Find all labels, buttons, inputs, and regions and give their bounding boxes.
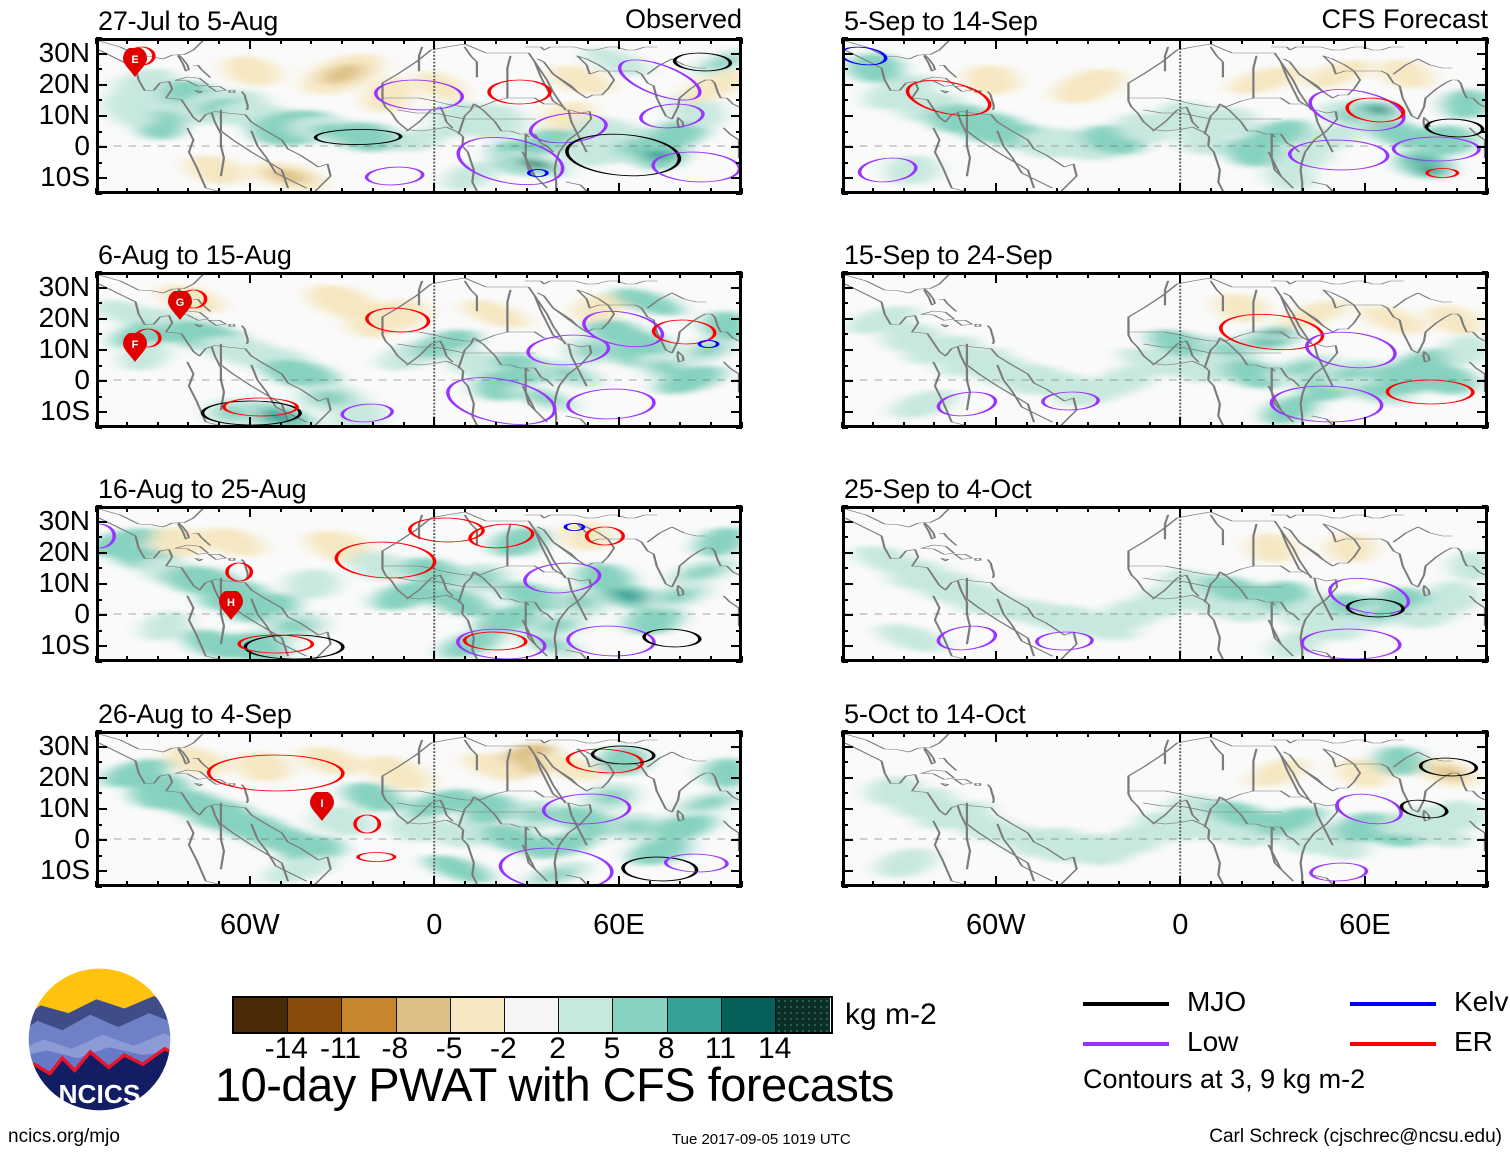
y-axis-label: 30N (4, 271, 90, 303)
y-axis-label: 10S (4, 395, 90, 427)
y-axis-label: 20N (4, 68, 90, 100)
colorbar-segment-2 (342, 998, 396, 1032)
y-axis-label: 10N (4, 567, 90, 599)
colorbar-segment-5 (505, 998, 559, 1032)
x-axis-label: 0 (394, 909, 474, 942)
legend-color-swatch (1083, 1002, 1169, 1006)
panel-title-r4: 5-Oct to 14-Oct (844, 699, 1026, 730)
colorbar (232, 996, 833, 1034)
y-axis-label: 20N (4, 536, 90, 568)
axis-ticks (96, 506, 742, 662)
colorbar-segment-8 (668, 998, 722, 1032)
x-axis-label: 60W (210, 909, 290, 942)
y-axis-label: 10S (4, 629, 90, 661)
panel-title-r3: 25-Sep to 4-Oct (844, 474, 1032, 505)
y-axis-label: 0 (4, 823, 90, 855)
y-axis-label: 0 (4, 598, 90, 630)
axis-ticks (842, 506, 1488, 662)
legend-label: Kelvin x2 (1454, 986, 1510, 1018)
colorbar-segment-3 (397, 998, 451, 1032)
colorbar-segment-1 (288, 998, 342, 1032)
axis-ticks (842, 731, 1488, 887)
ncics-logo-text: NCICS (59, 1079, 141, 1109)
column-header-observed: Observed (96, 4, 742, 35)
colorbar-segment-10 (776, 998, 830, 1032)
legend-color-swatch (1350, 1042, 1436, 1046)
panel-title-l3: 16-Aug to 25-Aug (98, 474, 306, 505)
colorbar-segment-7 (613, 998, 667, 1032)
axis-ticks (842, 272, 1488, 428)
footer-website-link[interactable]: ncics.org/mjo (8, 1126, 120, 1148)
y-axis-label: 10N (4, 792, 90, 824)
footer-timestamp: Tue 2017-09-05 1019 UTC (672, 1131, 851, 1148)
y-axis-label: 10S (4, 854, 90, 886)
colorbar-segment-6 (559, 998, 613, 1032)
y-axis-label: 10N (4, 333, 90, 365)
footer-author-contact[interactable]: Carl Schreck (cjschrec@ncsu.edu) (1209, 1126, 1502, 1148)
colorbar-segment-9 (722, 998, 776, 1032)
legend-color-swatch (1350, 1002, 1436, 1006)
x-axis-label: 60W (956, 909, 1036, 942)
ncics-logo-graphic: NCICS (22, 962, 177, 1117)
legend-label: MJO (1187, 986, 1246, 1018)
panel-title-r2: 15-Sep to 24-Sep (844, 240, 1052, 271)
legend-label: ER (1454, 1026, 1493, 1058)
colorbar-segment-0 (234, 998, 288, 1032)
axis-ticks (96, 38, 742, 194)
x-axis-label: 60E (1325, 909, 1405, 942)
legend-color-swatch (1083, 1042, 1169, 1046)
y-axis-label: 20N (4, 302, 90, 334)
y-axis-label: 0 (4, 130, 90, 162)
x-axis-label: 0 (1140, 909, 1220, 942)
y-axis-label: 30N (4, 37, 90, 69)
ncics-logo: NCICS (22, 962, 177, 1117)
panel-title-l4: 26-Aug to 4-Sep (98, 699, 292, 730)
y-axis-label: 10N (4, 99, 90, 131)
axis-ticks (96, 731, 742, 887)
x-axis-label: 60E (579, 909, 659, 942)
legend-label: Low (1187, 1026, 1238, 1058)
column-header-forecast: CFS Forecast (842, 4, 1488, 35)
y-axis-label: 0 (4, 364, 90, 396)
y-axis-label: 30N (4, 505, 90, 537)
axis-ticks (842, 38, 1488, 194)
legend-contour-note: Contours at 3, 9 kg m-2 (1083, 1064, 1365, 1095)
y-axis-label: 20N (4, 761, 90, 793)
main-title: 10-day PWAT with CFS forecasts (215, 1057, 894, 1112)
axis-ticks (96, 272, 742, 428)
colorbar-segment-4 (451, 998, 505, 1032)
y-axis-label: 30N (4, 730, 90, 762)
colorbar-units-label: kg m-2 (845, 998, 937, 1032)
panel-title-l2: 6-Aug to 15-Aug (98, 240, 292, 271)
y-axis-label: 10S (4, 161, 90, 193)
